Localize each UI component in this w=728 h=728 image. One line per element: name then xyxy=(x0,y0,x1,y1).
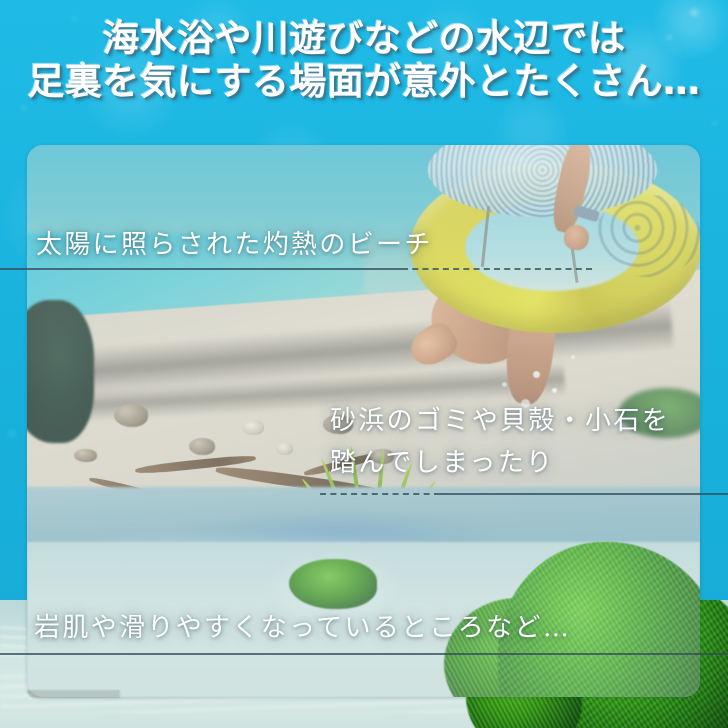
caption-overlay-layer: 太陽に照らされた灼熱のビーチ 砂浜のゴミや貝殻・小石を 踏んでしまったり 岩肌や… xyxy=(0,0,728,728)
caption-hot-beach: 太陽に照らされた灼熱のビーチ xyxy=(36,224,433,266)
slide-canvas: 太陽に照らされた灼熱のビーチ 砂浜のゴミや貝殻・小石を 踏んでしまったり 岩肌や… xyxy=(0,0,728,728)
title-line-2: 足裏を気にする場面が意外とたくさん… xyxy=(0,61,728,104)
header-title: 海水浴や川遊びなどの水辺では 足裏を気にする場面が意外とたくさん… xyxy=(0,18,728,104)
caption-beach-debris: 砂浜のゴミや貝殻・小石を 踏んでしまったり xyxy=(330,400,670,484)
title-line-1: 海水浴や川遊びなどの水辺では xyxy=(0,18,728,61)
caption-slippery-rocks: 岩肌や滑りやすくなっているところなど… xyxy=(34,607,571,649)
